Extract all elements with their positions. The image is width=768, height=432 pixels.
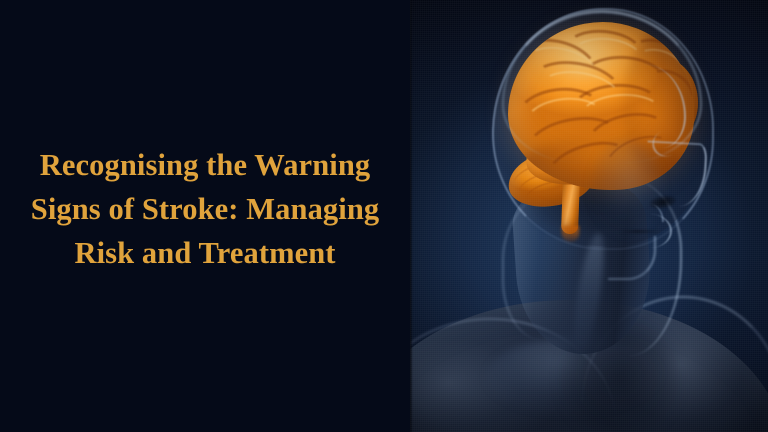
face-profile	[606, 64, 726, 264]
stroke-awareness-banner: Recognising the Warning Signs of Stroke:…	[0, 0, 768, 432]
headline-line-2: Signs of Stroke: Managing	[9, 187, 401, 231]
headline-panel: Recognising the Warning Signs of Stroke:…	[0, 0, 410, 432]
panel-seam	[410, 0, 413, 432]
headline-line-1: Recognising the Warning	[9, 143, 401, 187]
headline-line-3: Risk and Treatment	[9, 231, 401, 275]
lip-line	[620, 230, 662, 233]
human-figure	[410, 0, 768, 432]
page-title: Recognising the Warning Signs of Stroke:…	[5, 143, 405, 275]
brain-illustration	[410, 0, 768, 432]
